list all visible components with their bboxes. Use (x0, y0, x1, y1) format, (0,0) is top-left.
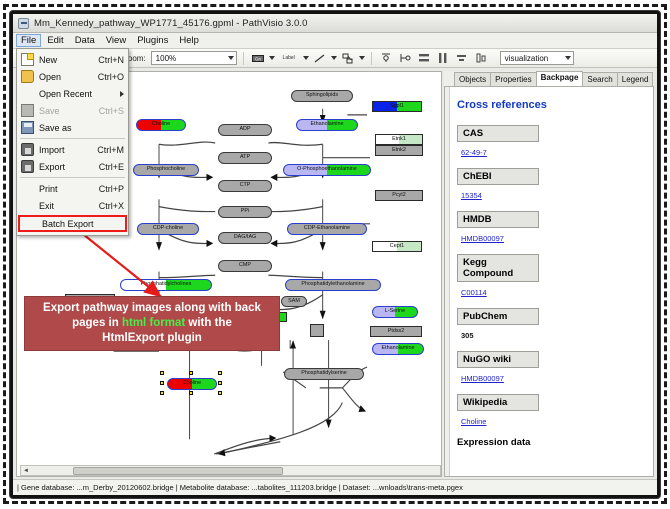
file-menu-item-shortcut: Ctrl+M (97, 145, 124, 155)
cross-reference-entry: WikipediaCholine (457, 394, 643, 429)
file-menu-item-label: Exit (39, 201, 93, 211)
pathway-node-phosphatidylethanolamine[interactable]: Phosphatidylethanolamine (285, 279, 381, 291)
resize-handle[interactable] (189, 391, 193, 395)
callout-line-3: HtmlExport plugin (102, 332, 202, 344)
file-menu-item-label: Save (39, 106, 93, 116)
pathway-node-sam-1[interactable]: SAM (281, 296, 307, 307)
pathway-node-label: DAG/IAG (234, 235, 256, 240)
pathway-node-phosphatidylserine[interactable]: Phosphatidylserine (284, 368, 364, 380)
cross-reference-link[interactable]: 62-49-7 (461, 148, 487, 157)
tab-properties[interactable]: Properties (490, 72, 536, 86)
cross-reference-entry: Kegg CompoundC00114 (457, 254, 643, 300)
window-title: Mm_Kennedy_pathway_WP1771_45176.gpml - P… (34, 18, 308, 29)
distribute-h-icon[interactable] (435, 51, 451, 66)
resize-handle[interactable] (218, 371, 222, 375)
chevron-down-icon-2 (565, 56, 571, 60)
pathway-node-anchor-box[interactable] (310, 324, 324, 337)
callout-line-2-pre: pages in (72, 317, 122, 329)
datanode-icon[interactable]: Gn (250, 51, 266, 66)
pathway-node-label: CDP-choline (153, 226, 183, 231)
side-panel: Objects Properties Backpage Search Legen… (444, 71, 654, 477)
menubar: File Edit Data View Plugins Help (13, 33, 657, 49)
cross-reference-list: CAS62-49-7ChEBI15354HMDBHMDB00097Kegg Co… (457, 125, 643, 429)
cross-reference-name: CAS (457, 125, 539, 142)
menu-data[interactable]: Data (70, 34, 100, 47)
file-menu-item-label: Import (39, 145, 91, 155)
file-menu-item-shortcut: Ctrl+X (99, 201, 124, 211)
cross-reference-name: ChEBI (457, 168, 539, 185)
file-menu-item-label: New (39, 55, 92, 65)
toolbar-separator-2 (371, 52, 372, 65)
tab-objects[interactable]: Objects (454, 72, 491, 86)
zoom-value: 100% (156, 54, 176, 63)
cross-reference-name: NuGO wiki (457, 351, 539, 368)
pathway-node-etnk1[interactable]: Etnk1 (375, 134, 423, 145)
menu-edit[interactable]: Edit (42, 34, 68, 47)
backpage-left-gutter (445, 87, 450, 476)
save-icon (21, 104, 34, 117)
file-menu-item-label: Open Recent (39, 89, 120, 99)
backpage-content: Cross references CAS62-49-7ChEBI15354HMD… (444, 86, 654, 477)
pathway-node-label: O-Phosphoethanolamine (297, 167, 357, 172)
file-menu-item-label: Print (39, 184, 93, 194)
file-menu-item-label: Open (39, 72, 92, 82)
pathway-node-label: CTP (240, 183, 251, 188)
file-menu-separator (20, 177, 125, 178)
visualization-value: visualization (505, 54, 549, 63)
pathway-node-label: CDP-Ethanolamine (304, 226, 350, 231)
pathway-node-label: ATP (240, 155, 250, 160)
pathway-node-label: Phosphatidylserine (301, 371, 347, 376)
file-menu-item-open[interactable]: OpenCtrl+O (17, 68, 128, 85)
pathway-node-ppi[interactable]: PPi (218, 206, 272, 218)
pathway-node-cmp[interactable]: CMP (218, 260, 272, 272)
pathway-node-ethanolamine-top[interactable]: Ethanolamine (296, 119, 358, 131)
pathway-node-label: PPi (241, 209, 249, 214)
chevron-down-icon (228, 56, 234, 60)
export-icon (21, 160, 34, 173)
statusbar: | Gene database: ...m_Derby_20120602.bri… (13, 479, 657, 495)
file-menu-item-import[interactable]: ImportCtrl+M (17, 141, 128, 158)
pathway-node-phosphocholine[interactable]: Phosphocholine (133, 164, 199, 176)
visualization-combobox[interactable]: visualization (500, 51, 574, 65)
menu-plugins[interactable]: Plugins (132, 34, 173, 47)
file-menu-item-shortcut: Ctrl+P (99, 184, 124, 194)
resize-handle[interactable] (218, 381, 222, 385)
file-menu-item-batch-export[interactable]: Batch Export (18, 215, 127, 232)
file-menu-item-shortcut: Ctrl+O (98, 72, 124, 82)
label-button-text: Label (283, 55, 295, 61)
pathway-node-label: L-Serine (385, 309, 405, 314)
resize-handle[interactable] (160, 381, 164, 385)
pathway-node-o-phosphoethanolamine[interactable]: O-Phosphoethanolamine (283, 164, 371, 176)
pathway-node-label: Ethanolamine (311, 122, 344, 127)
statusbar-text: | Gene database: ...m_Derby_20120602.bri… (17, 483, 463, 492)
pathway-node-ptdss2[interactable]: Ptdss2 (370, 326, 422, 337)
import-icon (21, 143, 34, 156)
cross-reference-entry: CAS62-49-7 (457, 125, 643, 160)
cross-references-title: Cross references (457, 99, 643, 111)
callout-line-2-post: with the (185, 317, 232, 329)
file-menu-item-shortcut: Ctrl+E (99, 162, 124, 172)
pathway-node-label: Sphingolipids (306, 93, 338, 98)
interaction-icon[interactable] (340, 51, 356, 66)
cross-reference-value: 305 (461, 331, 474, 340)
file-menu-item-save: SaveCtrl+S (17, 102, 128, 119)
tab-search[interactable]: Search (582, 72, 617, 86)
cross-reference-name: Wikipedia (457, 394, 539, 411)
pathway-node-label: Pcyt2 (392, 193, 405, 198)
pathway-node-l-serine[interactable]: L-Serine (372, 306, 418, 318)
file-menu-item-new[interactable]: NewCtrl+N (17, 51, 128, 68)
pathway-node-label: Etnk1 (392, 137, 406, 142)
submenu-arrow-icon (120, 91, 124, 97)
resize-handle[interactable] (218, 391, 222, 395)
resize-handle[interactable] (160, 371, 164, 375)
cross-reference-name: HMDB (457, 211, 539, 228)
pathway-node-label: Phosphocholine (147, 167, 185, 172)
pathway-node-cdp-choline[interactable]: CDP-choline (137, 223, 199, 235)
expression-data-heading: Expression data (457, 437, 643, 448)
file-menu-item-export[interactable]: ExportCtrl+E (17, 158, 128, 175)
pathway-node-label: Ethanolamine (382, 346, 415, 351)
pathway-node-adp[interactable]: ADP (218, 124, 272, 136)
pathway-node-sphingolipids[interactable]: Sphingolipids (291, 90, 353, 102)
save-as-icon (21, 121, 34, 134)
label-dropdown-icon[interactable] (303, 56, 309, 60)
selection-handles[interactable] (163, 374, 221, 394)
file-menu-separator (20, 138, 125, 139)
pathway-node-label: Etnk2 (392, 148, 406, 153)
pathway-node-label: Ptdss2 (388, 329, 404, 334)
align-top-icon[interactable] (378, 51, 394, 66)
pathway-node-ethanolamine-bot[interactable]: Ethanolamine (372, 343, 424, 355)
datanode-dropdown-icon[interactable] (269, 56, 275, 60)
resize-handle[interactable] (160, 391, 164, 395)
label-icon[interactable]: Label (278, 51, 300, 66)
pathway-node-dag-iag[interactable]: DAG/IAG (218, 232, 272, 244)
pathway-node-sgpl1[interactable]: Sgpl1 (372, 101, 422, 112)
menu-item-no-icon (24, 217, 37, 230)
pathway-node-ctp[interactable]: CTP (218, 180, 272, 192)
file-menu-item-print[interactable]: PrintCtrl+P (17, 180, 128, 197)
toolbar-separator (243, 52, 244, 65)
pathway-node-cept1[interactable]: Cept1 (372, 241, 422, 252)
open-folder-icon (21, 70, 34, 83)
cross-reference-entry: PubChem305 (457, 308, 643, 343)
pathway-node-label: ADP (239, 127, 250, 132)
line-icon[interactable] (312, 51, 328, 66)
interaction-dropdown-icon[interactable] (359, 56, 365, 60)
cross-reference-entry: HMDBHMDB00097 (457, 211, 643, 246)
pathway-node-label: Phosphatidylethanolamine (301, 282, 364, 287)
cross-reference-entry: ChEBI15354 (457, 168, 643, 203)
menu-item-no-icon (21, 199, 34, 212)
menu-file[interactable]: File (16, 34, 41, 47)
resize-handle[interactable] (189, 371, 193, 375)
same-width-icon[interactable] (454, 51, 470, 66)
file-menu-item-shortcut: Ctrl+S (99, 106, 124, 116)
tab-backpage[interactable]: Backpage (536, 71, 584, 86)
cross-reference-link[interactable]: HMDB00097 (461, 234, 504, 243)
file-menu-item-label: Save as (39, 123, 124, 133)
cross-reference-link[interactable]: HMDB00097 (461, 374, 504, 383)
scrollbar-thumb[interactable] (73, 467, 283, 475)
pathvisio-window: Mm_Kennedy_pathway_WP1771_45176.gpml - P… (10, 11, 660, 498)
tab-legend[interactable]: Legend (617, 72, 654, 86)
file-menu-dropdown[interactable]: NewCtrl+NOpenCtrl+OOpen RecentSaveCtrl+S… (16, 48, 129, 236)
file-menu-item-label: Batch Export (42, 219, 121, 229)
cross-reference-name: Kegg Compound (457, 254, 539, 282)
cross-reference-name: PubChem (457, 308, 539, 325)
file-menu-item-shortcut: Ctrl+N (98, 55, 124, 65)
pathway-node-label: Phosphatidylcholines (141, 282, 192, 287)
menu-item-no-icon (21, 182, 34, 195)
pathway-node-phosphatidylcholines[interactable]: Phosphatidylcholines (120, 279, 212, 291)
canvas-horizontal-scrollbar[interactable]: ◄ (20, 465, 441, 476)
cross-reference-link[interactable]: Choline (461, 417, 486, 426)
file-menu-item-save-as[interactable]: Save as (17, 119, 128, 136)
menu-view[interactable]: View (101, 34, 131, 47)
pathway-node-label: CMP (239, 263, 251, 268)
pathway-node-label: Cept1 (390, 244, 404, 249)
annotation-callout: Export pathway images along with back pa… (24, 296, 280, 351)
window-titlebar: Mm_Kennedy_pathway_WP1771_45176.gpml - P… (13, 14, 657, 33)
file-menu-items: NewCtrl+NOpenCtrl+OOpen RecentSaveCtrl+S… (17, 51, 128, 232)
pathway-node-label: SAM (288, 299, 300, 304)
line-dropdown-icon[interactable] (331, 56, 337, 60)
svg-text:Gn: Gn (255, 56, 262, 61)
pathway-node-atp[interactable]: ATP (218, 152, 272, 164)
file-menu-item-exit[interactable]: ExitCtrl+X (17, 197, 128, 214)
pathway-node-label: Choline (152, 122, 170, 127)
scroll-left-icon[interactable]: ◄ (21, 466, 31, 475)
pathway-node-cdp-ethanolamine[interactable]: CDP-Ethanolamine (287, 223, 367, 235)
distribute-v-icon[interactable] (416, 51, 432, 66)
pathvisio-icon (18, 18, 29, 29)
file-menu-item-label: Export (39, 162, 93, 172)
cross-reference-link[interactable]: C00114 (461, 288, 487, 297)
pathway-node-choline-top[interactable]: Choline (136, 119, 186, 131)
same-height-icon[interactable] (473, 51, 489, 66)
align-left-icon[interactable] (397, 51, 413, 66)
file-menu-item-open-recent[interactable]: Open Recent (17, 85, 128, 102)
cross-reference-entry: NuGO wikiHMDB00097 (457, 351, 643, 386)
pathway-node-etnk2[interactable]: Etnk2 (375, 145, 423, 156)
menu-item-no-icon (21, 87, 34, 100)
callout-line-1: Export pathway images along with back (43, 302, 261, 314)
pathway-node-label: Sgpl1 (390, 104, 404, 109)
cross-reference-link[interactable]: 15354 (461, 191, 482, 200)
new-file-icon (21, 53, 34, 66)
pathway-node-pcyt2[interactable]: Pcyt2 (375, 190, 423, 201)
zoom-combobox[interactable]: 100% (151, 51, 237, 65)
menu-help[interactable]: Help (174, 34, 204, 47)
side-panel-tabs: Objects Properties Backpage Search Legen… (444, 71, 654, 86)
screenshot-frame: Mm_Kennedy_pathway_WP1771_45176.gpml - P… (0, 0, 670, 509)
callout-highlight: html format (122, 317, 185, 329)
